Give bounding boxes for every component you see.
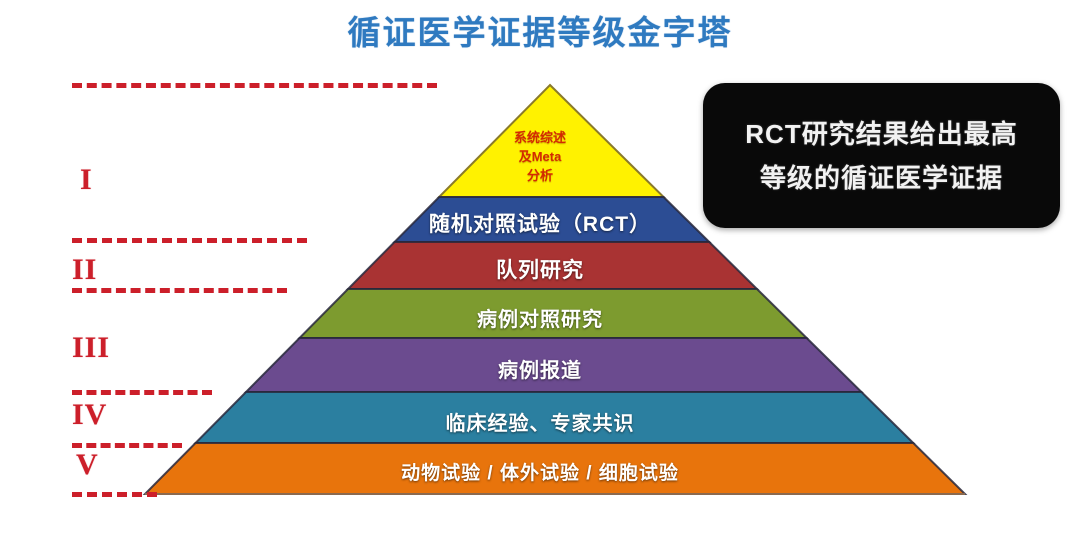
- level-separator-dashed-line: [72, 83, 437, 88]
- level-separator-dashed-line: [72, 390, 212, 395]
- pyramid-tier-rct: [395, 197, 710, 242]
- pyramid-graphic: [0, 0, 1080, 544]
- pyramid-tier-systematic-review: [439, 85, 663, 197]
- evidence-level-ii: II: [72, 253, 97, 287]
- level-separator-dashed-line: [72, 238, 307, 243]
- pyramid-tier-case-control-study: [300, 289, 807, 338]
- level-separator-dashed-line: [72, 288, 287, 293]
- pyramid-tier-case-report: [246, 338, 862, 392]
- callout-line: RCT研究结果给出最高: [745, 112, 1017, 156]
- evidence-level-v: V: [76, 448, 99, 482]
- evidence-level-iv: IV: [72, 398, 107, 432]
- evidence-pyramid-slide: 循证医学证据等级金字塔 系统综述 及Meta 分析 随机对照试验（RCT） 队列…: [0, 0, 1080, 544]
- pyramid-tier-animal-study: [145, 443, 965, 494]
- pyramid-tier-cohort-study: [348, 242, 757, 289]
- evidence-level-iii: III: [72, 331, 110, 365]
- rct-callout-box: RCT研究结果给出最高 等级的循证医学证据: [703, 83, 1060, 228]
- pyramid-tier-clinical-experience: [196, 392, 914, 443]
- evidence-level-i: I: [80, 163, 93, 197]
- callout-line: 等级的循证医学证据: [760, 156, 1003, 200]
- level-separator-dashed-line: [72, 492, 157, 497]
